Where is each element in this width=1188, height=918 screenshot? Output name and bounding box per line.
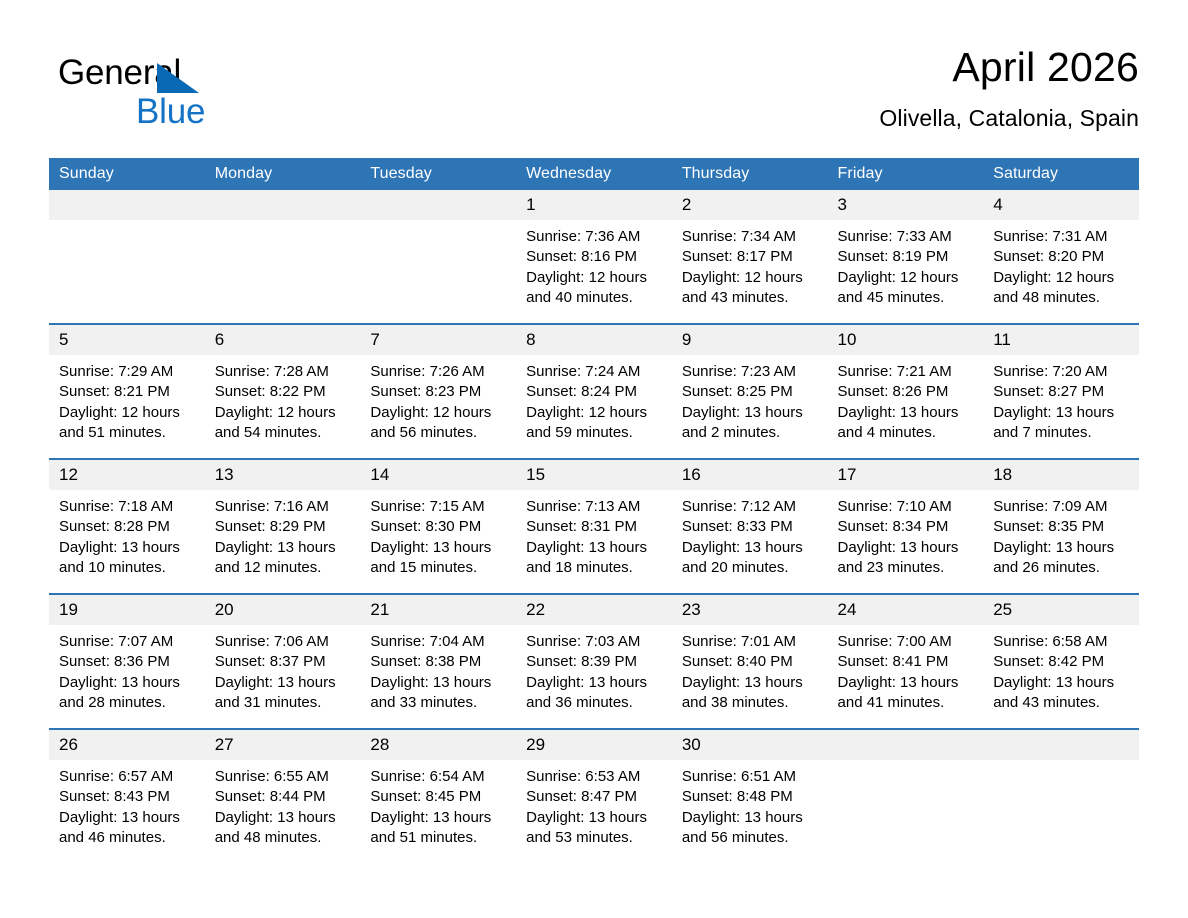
day-number (49, 190, 205, 220)
daylight-duration-line1: Daylight: 12 hours (682, 268, 818, 288)
calendar-day-cell-empty (360, 190, 516, 324)
sunrise-time: Sunrise: 7:31 AM (993, 227, 1129, 247)
day-number: 24 (828, 595, 984, 625)
sunset-time: Sunset: 8:40 PM (682, 652, 818, 672)
day-details: Sunrise: 7:28 AMSunset: 8:22 PMDaylight:… (205, 355, 361, 443)
day-cell-inner: 10Sunrise: 7:21 AMSunset: 8:26 PMDayligh… (828, 325, 984, 458)
sunrise-time: Sunrise: 7:12 AM (682, 497, 818, 517)
day-details: Sunrise: 7:10 AMSunset: 8:34 PMDaylight:… (828, 490, 984, 578)
daylight-duration-line2: and 12 minutes. (215, 558, 351, 578)
calendar-body: 1Sunrise: 7:36 AMSunset: 8:16 PMDaylight… (49, 190, 1139, 863)
daylight-duration-line2: and 7 minutes. (993, 423, 1129, 443)
calendar-day-cell-empty (49, 190, 205, 324)
day-cell-inner: 18Sunrise: 7:09 AMSunset: 8:35 PMDayligh… (983, 460, 1139, 593)
daylight-duration-line1: Daylight: 13 hours (838, 403, 974, 423)
calendar-day-cell-empty (828, 729, 984, 863)
daylight-duration-line1: Daylight: 13 hours (370, 808, 506, 828)
daylight-duration-line1: Daylight: 13 hours (215, 808, 351, 828)
general-blue-logo[interactable]: General Blue (58, 54, 318, 134)
daylight-duration-line2: and 28 minutes. (59, 693, 195, 713)
day-details: Sunrise: 7:12 AMSunset: 8:33 PMDaylight:… (672, 490, 828, 578)
day-number: 27 (205, 730, 361, 760)
daylight-duration-line2: and 26 minutes. (993, 558, 1129, 578)
sunset-time: Sunset: 8:22 PM (215, 382, 351, 402)
calendar-week-row: 19Sunrise: 7:07 AMSunset: 8:36 PMDayligh… (49, 594, 1139, 729)
day-number: 22 (516, 595, 672, 625)
day-cell-inner: 15Sunrise: 7:13 AMSunset: 8:31 PMDayligh… (516, 460, 672, 593)
calendar-day-cell[interactable]: 7Sunrise: 7:26 AMSunset: 8:23 PMDaylight… (360, 324, 516, 459)
day-details: Sunrise: 6:53 AMSunset: 8:47 PMDaylight:… (516, 760, 672, 848)
daylight-duration-line2: and 20 minutes. (682, 558, 818, 578)
sunset-time: Sunset: 8:45 PM (370, 787, 506, 807)
daylight-duration-line1: Daylight: 13 hours (682, 403, 818, 423)
title-block: April 2026 Olivella, Catalonia, Spain (879, 42, 1139, 134)
day-cell-inner: 30Sunrise: 6:51 AMSunset: 8:48 PMDayligh… (672, 730, 828, 863)
sunrise-time: Sunrise: 7:03 AM (526, 632, 662, 652)
day-number: 21 (360, 595, 516, 625)
daylight-duration-line2: and 56 minutes. (370, 423, 506, 443)
daylight-duration-line1: Daylight: 13 hours (370, 538, 506, 558)
sunrise-time: Sunrise: 6:53 AM (526, 767, 662, 787)
calendar-day-cell[interactable]: 30Sunrise: 6:51 AMSunset: 8:48 PMDayligh… (672, 729, 828, 863)
daylight-duration-line1: Daylight: 12 hours (993, 268, 1129, 288)
blue-triangle-icon (157, 63, 199, 93)
calendar-day-cell[interactable]: 19Sunrise: 7:07 AMSunset: 8:36 PMDayligh… (49, 594, 205, 729)
daylight-duration-line2: and 41 minutes. (838, 693, 974, 713)
sunrise-time: Sunrise: 7:34 AM (682, 227, 818, 247)
sunrise-time: Sunrise: 7:26 AM (370, 362, 506, 382)
day-details: Sunrise: 6:54 AMSunset: 8:45 PMDaylight:… (360, 760, 516, 848)
sunset-time: Sunset: 8:20 PM (993, 247, 1129, 267)
sunrise-time: Sunrise: 7:06 AM (215, 632, 351, 652)
sunrise-time: Sunrise: 7:36 AM (526, 227, 662, 247)
daylight-duration-line1: Daylight: 12 hours (215, 403, 351, 423)
daylight-duration-line1: Daylight: 12 hours (59, 403, 195, 423)
calendar-day-cell[interactable]: 12Sunrise: 7:18 AMSunset: 8:28 PMDayligh… (49, 459, 205, 594)
daylight-duration-line1: Daylight: 13 hours (526, 538, 662, 558)
day-cell-inner: 12Sunrise: 7:18 AMSunset: 8:28 PMDayligh… (49, 460, 205, 593)
weekday-header-wednesday: Wednesday (516, 158, 672, 190)
day-details: Sunrise: 7:29 AMSunset: 8:21 PMDaylight:… (49, 355, 205, 443)
calendar-day-cell[interactable]: 16Sunrise: 7:12 AMSunset: 8:33 PMDayligh… (672, 459, 828, 594)
sunrise-time: Sunrise: 7:09 AM (993, 497, 1129, 517)
sunset-time: Sunset: 8:47 PM (526, 787, 662, 807)
day-details: Sunrise: 7:18 AMSunset: 8:28 PMDaylight:… (49, 490, 205, 578)
day-number: 23 (672, 595, 828, 625)
weekday-header-tuesday: Tuesday (360, 158, 516, 190)
daylight-duration-line2: and 59 minutes. (526, 423, 662, 443)
daylight-duration-line1: Daylight: 12 hours (370, 403, 506, 423)
day-cell-inner (360, 190, 516, 323)
sunset-time: Sunset: 8:28 PM (59, 517, 195, 537)
day-number: 20 (205, 595, 361, 625)
sunset-time: Sunset: 8:17 PM (682, 247, 818, 267)
daylight-duration-line2: and 15 minutes. (370, 558, 506, 578)
day-details: Sunrise: 6:58 AMSunset: 8:42 PMDaylight:… (983, 625, 1139, 713)
day-cell-inner: 20Sunrise: 7:06 AMSunset: 8:37 PMDayligh… (205, 595, 361, 728)
sunrise-sunset-calendar-table: Sunday Monday Tuesday Wednesday Thursday… (49, 158, 1139, 863)
day-number: 29 (516, 730, 672, 760)
calendar-header-row: Sunday Monday Tuesday Wednesday Thursday… (49, 158, 1139, 190)
day-cell-inner: 24Sunrise: 7:00 AMSunset: 8:41 PMDayligh… (828, 595, 984, 728)
day-number (828, 730, 984, 760)
sunset-time: Sunset: 8:48 PM (682, 787, 818, 807)
day-number: 2 (672, 190, 828, 220)
day-cell-inner: 4Sunrise: 7:31 AMSunset: 8:20 PMDaylight… (983, 190, 1139, 323)
sunrise-time: Sunrise: 6:57 AM (59, 767, 195, 787)
day-cell-inner (828, 730, 984, 863)
sunrise-time: Sunrise: 6:51 AM (682, 767, 818, 787)
day-details: Sunrise: 6:51 AMSunset: 8:48 PMDaylight:… (672, 760, 828, 848)
day-details: Sunrise: 7:24 AMSunset: 8:24 PMDaylight:… (516, 355, 672, 443)
calendar-day-cell[interactable]: 26Sunrise: 6:57 AMSunset: 8:43 PMDayligh… (49, 729, 205, 863)
sunrise-time: Sunrise: 6:54 AM (370, 767, 506, 787)
day-number: 13 (205, 460, 361, 490)
calendar-week-row: 5Sunrise: 7:29 AMSunset: 8:21 PMDaylight… (49, 324, 1139, 459)
day-details: Sunrise: 7:06 AMSunset: 8:37 PMDaylight:… (205, 625, 361, 713)
weekday-header-monday: Monday (205, 158, 361, 190)
day-cell-inner: 29Sunrise: 6:53 AMSunset: 8:47 PMDayligh… (516, 730, 672, 863)
sunset-time: Sunset: 8:16 PM (526, 247, 662, 267)
weekday-header-thursday: Thursday (672, 158, 828, 190)
daylight-duration-line1: Daylight: 13 hours (682, 538, 818, 558)
day-number: 26 (49, 730, 205, 760)
sunset-time: Sunset: 8:33 PM (682, 517, 818, 537)
day-cell-inner: 11Sunrise: 7:20 AMSunset: 8:27 PMDayligh… (983, 325, 1139, 458)
day-details: Sunrise: 7:13 AMSunset: 8:31 PMDaylight:… (516, 490, 672, 578)
day-details: Sunrise: 7:01 AMSunset: 8:40 PMDaylight:… (672, 625, 828, 713)
day-number: 18 (983, 460, 1139, 490)
day-number: 25 (983, 595, 1139, 625)
day-cell-inner: 2Sunrise: 7:34 AMSunset: 8:17 PMDaylight… (672, 190, 828, 323)
day-details: Sunrise: 6:57 AMSunset: 8:43 PMDaylight:… (49, 760, 205, 848)
calendar-day-cell[interactable]: 29Sunrise: 6:53 AMSunset: 8:47 PMDayligh… (516, 729, 672, 863)
daylight-duration-line1: Daylight: 13 hours (838, 673, 974, 693)
sunrise-time: Sunrise: 7:15 AM (370, 497, 506, 517)
day-number: 6 (205, 325, 361, 355)
day-details: Sunrise: 7:15 AMSunset: 8:30 PMDaylight:… (360, 490, 516, 578)
sunset-time: Sunset: 8:19 PM (838, 247, 974, 267)
day-number: 1 (516, 190, 672, 220)
day-details: Sunrise: 7:07 AMSunset: 8:36 PMDaylight:… (49, 625, 205, 713)
day-cell-inner (49, 190, 205, 323)
calendar-week-row: 12Sunrise: 7:18 AMSunset: 8:28 PMDayligh… (49, 459, 1139, 594)
day-cell-inner: 9Sunrise: 7:23 AMSunset: 8:25 PMDaylight… (672, 325, 828, 458)
page-header: General Blue April 2026 Olivella, Catalo… (49, 42, 1139, 152)
day-cell-inner (205, 190, 361, 323)
calendar-day-cell[interactable]: 20Sunrise: 7:06 AMSunset: 8:37 PMDayligh… (205, 594, 361, 729)
daylight-duration-line2: and 48 minutes. (215, 828, 351, 848)
calendar-day-cell[interactable]: 2Sunrise: 7:34 AMSunset: 8:17 PMDaylight… (672, 190, 828, 324)
weekday-header-saturday: Saturday (983, 158, 1139, 190)
day-number: 30 (672, 730, 828, 760)
calendar-page: General Blue April 2026 Olivella, Catalo… (0, 0, 1188, 918)
sunset-time: Sunset: 8:42 PM (993, 652, 1129, 672)
day-cell-inner: 22Sunrise: 7:03 AMSunset: 8:39 PMDayligh… (516, 595, 672, 728)
day-details: Sunrise: 7:26 AMSunset: 8:23 PMDaylight:… (360, 355, 516, 443)
calendar-day-cell[interactable]: 3Sunrise: 7:33 AMSunset: 8:19 PMDaylight… (828, 190, 984, 324)
day-number: 19 (49, 595, 205, 625)
sunset-time: Sunset: 8:30 PM (370, 517, 506, 537)
sunset-time: Sunset: 8:24 PM (526, 382, 662, 402)
day-cell-inner: 13Sunrise: 7:16 AMSunset: 8:29 PMDayligh… (205, 460, 361, 593)
day-cell-inner: 26Sunrise: 6:57 AMSunset: 8:43 PMDayligh… (49, 730, 205, 863)
day-cell-inner: 21Sunrise: 7:04 AMSunset: 8:38 PMDayligh… (360, 595, 516, 728)
day-details: Sunrise: 7:21 AMSunset: 8:26 PMDaylight:… (828, 355, 984, 443)
calendar-day-cell[interactable]: 14Sunrise: 7:15 AMSunset: 8:30 PMDayligh… (360, 459, 516, 594)
sunset-time: Sunset: 8:43 PM (59, 787, 195, 807)
daylight-duration-line2: and 2 minutes. (682, 423, 818, 443)
daylight-duration-line1: Daylight: 13 hours (993, 673, 1129, 693)
calendar-day-cell[interactable]: 27Sunrise: 6:55 AMSunset: 8:44 PMDayligh… (205, 729, 361, 863)
day-cell-inner: 19Sunrise: 7:07 AMSunset: 8:36 PMDayligh… (49, 595, 205, 728)
daylight-duration-line2: and 54 minutes. (215, 423, 351, 443)
day-cell-inner: 5Sunrise: 7:29 AMSunset: 8:21 PMDaylight… (49, 325, 205, 458)
sunrise-time: Sunrise: 7:16 AM (215, 497, 351, 517)
calendar-day-cell[interactable]: 18Sunrise: 7:09 AMSunset: 8:35 PMDayligh… (983, 459, 1139, 594)
daylight-duration-line1: Daylight: 13 hours (59, 673, 195, 693)
daylight-duration-line1: Daylight: 13 hours (370, 673, 506, 693)
daylight-duration-line1: Daylight: 13 hours (993, 538, 1129, 558)
day-cell-inner: 6Sunrise: 7:28 AMSunset: 8:22 PMDaylight… (205, 325, 361, 458)
day-number: 11 (983, 325, 1139, 355)
sunset-time: Sunset: 8:31 PM (526, 517, 662, 537)
calendar-day-cell[interactable]: 5Sunrise: 7:29 AMSunset: 8:21 PMDaylight… (49, 324, 205, 459)
sunset-time: Sunset: 8:36 PM (59, 652, 195, 672)
page-title: April 2026 (879, 42, 1139, 92)
day-cell-inner: 23Sunrise: 7:01 AMSunset: 8:40 PMDayligh… (672, 595, 828, 728)
day-cell-inner: 16Sunrise: 7:12 AMSunset: 8:33 PMDayligh… (672, 460, 828, 593)
sunset-time: Sunset: 8:25 PM (682, 382, 818, 402)
sunrise-time: Sunrise: 7:13 AM (526, 497, 662, 517)
sunrise-time: Sunrise: 7:00 AM (838, 632, 974, 652)
weekday-header-friday: Friday (828, 158, 984, 190)
calendar-day-cell[interactable]: 23Sunrise: 7:01 AMSunset: 8:40 PMDayligh… (672, 594, 828, 729)
calendar-day-cell[interactable]: 21Sunrise: 7:04 AMSunset: 8:38 PMDayligh… (360, 594, 516, 729)
day-details: Sunrise: 6:55 AMSunset: 8:44 PMDaylight:… (205, 760, 361, 848)
daylight-duration-line2: and 51 minutes. (59, 423, 195, 443)
daylight-duration-line1: Daylight: 13 hours (59, 538, 195, 558)
daylight-duration-line2: and 46 minutes. (59, 828, 195, 848)
sunrise-time: Sunrise: 7:20 AM (993, 362, 1129, 382)
daylight-duration-line2: and 18 minutes. (526, 558, 662, 578)
day-details: Sunrise: 7:04 AMSunset: 8:38 PMDaylight:… (360, 625, 516, 713)
sunrise-time: Sunrise: 7:24 AM (526, 362, 662, 382)
sunset-time: Sunset: 8:41 PM (838, 652, 974, 672)
daylight-duration-line1: Daylight: 12 hours (526, 403, 662, 423)
daylight-duration-line2: and 43 minutes. (993, 693, 1129, 713)
daylight-duration-line2: and 56 minutes. (682, 828, 818, 848)
daylight-duration-line1: Daylight: 13 hours (838, 538, 974, 558)
sunset-time: Sunset: 8:38 PM (370, 652, 506, 672)
sunset-time: Sunset: 8:35 PM (993, 517, 1129, 537)
day-number: 16 (672, 460, 828, 490)
sunrise-time: Sunrise: 7:21 AM (838, 362, 974, 382)
day-cell-inner: 8Sunrise: 7:24 AMSunset: 8:24 PMDaylight… (516, 325, 672, 458)
sunset-time: Sunset: 8:27 PM (993, 382, 1129, 402)
day-number (983, 730, 1139, 760)
daylight-duration-line2: and 53 minutes. (526, 828, 662, 848)
daylight-duration-line1: Daylight: 13 hours (59, 808, 195, 828)
day-details: Sunrise: 7:00 AMSunset: 8:41 PMDaylight:… (828, 625, 984, 713)
daylight-duration-line1: Daylight: 12 hours (838, 268, 974, 288)
day-number: 10 (828, 325, 984, 355)
sunset-time: Sunset: 8:26 PM (838, 382, 974, 402)
day-cell-inner (983, 730, 1139, 863)
calendar-day-cell[interactable]: 6Sunrise: 7:28 AMSunset: 8:22 PMDaylight… (205, 324, 361, 459)
sunrise-time: Sunrise: 7:04 AM (370, 632, 506, 652)
calendar-week-row: 1Sunrise: 7:36 AMSunset: 8:16 PMDaylight… (49, 190, 1139, 324)
day-cell-inner: 7Sunrise: 7:26 AMSunset: 8:23 PMDaylight… (360, 325, 516, 458)
sunrise-time: Sunrise: 7:18 AM (59, 497, 195, 517)
calendar-day-cell[interactable]: 17Sunrise: 7:10 AMSunset: 8:34 PMDayligh… (828, 459, 984, 594)
daylight-duration-line2: and 10 minutes. (59, 558, 195, 578)
day-details: Sunrise: 7:20 AMSunset: 8:27 PMDaylight:… (983, 355, 1139, 443)
calendar-week-row: 26Sunrise: 6:57 AMSunset: 8:43 PMDayligh… (49, 729, 1139, 863)
day-number: 15 (516, 460, 672, 490)
day-number: 4 (983, 190, 1139, 220)
daylight-duration-line2: and 48 minutes. (993, 288, 1129, 308)
day-number: 3 (828, 190, 984, 220)
daylight-duration-line1: Daylight: 13 hours (993, 403, 1129, 423)
daylight-duration-line2: and 33 minutes. (370, 693, 506, 713)
sunset-time: Sunset: 8:44 PM (215, 787, 351, 807)
daylight-duration-line2: and 36 minutes. (526, 693, 662, 713)
calendar-day-cell[interactable]: 8Sunrise: 7:24 AMSunset: 8:24 PMDaylight… (516, 324, 672, 459)
day-cell-inner: 25Sunrise: 6:58 AMSunset: 8:42 PMDayligh… (983, 595, 1139, 728)
day-cell-inner: 27Sunrise: 6:55 AMSunset: 8:44 PMDayligh… (205, 730, 361, 863)
day-number: 17 (828, 460, 984, 490)
day-number: 9 (672, 325, 828, 355)
daylight-duration-line1: Daylight: 13 hours (215, 538, 351, 558)
day-number: 12 (49, 460, 205, 490)
day-details: Sunrise: 7:09 AMSunset: 8:35 PMDaylight:… (983, 490, 1139, 578)
calendar-day-cell[interactable]: 10Sunrise: 7:21 AMSunset: 8:26 PMDayligh… (828, 324, 984, 459)
day-cell-inner: 1Sunrise: 7:36 AMSunset: 8:16 PMDaylight… (516, 190, 672, 323)
daylight-duration-line1: Daylight: 13 hours (526, 808, 662, 828)
daylight-duration-line1: Daylight: 13 hours (682, 808, 818, 828)
day-details: Sunrise: 7:23 AMSunset: 8:25 PMDaylight:… (672, 355, 828, 443)
daylight-duration-line2: and 23 minutes. (838, 558, 974, 578)
sunrise-time: Sunrise: 7:29 AM (59, 362, 195, 382)
daylight-duration-line1: Daylight: 13 hours (682, 673, 818, 693)
calendar-day-cell[interactable]: 25Sunrise: 6:58 AMSunset: 8:42 PMDayligh… (983, 594, 1139, 729)
day-number: 7 (360, 325, 516, 355)
daylight-duration-line2: and 4 minutes. (838, 423, 974, 443)
daylight-duration-line2: and 45 minutes. (838, 288, 974, 308)
day-details: Sunrise: 7:31 AMSunset: 8:20 PMDaylight:… (983, 220, 1139, 308)
day-number: 5 (49, 325, 205, 355)
daylight-duration-line2: and 51 minutes. (370, 828, 506, 848)
daylight-duration-line1: Daylight: 12 hours (526, 268, 662, 288)
day-number: 14 (360, 460, 516, 490)
calendar-day-cell[interactable]: 1Sunrise: 7:36 AMSunset: 8:16 PMDaylight… (516, 190, 672, 324)
page-subtitle: Olivella, Catalonia, Spain (879, 102, 1139, 134)
weekday-header-sunday: Sunday (49, 158, 205, 190)
daylight-duration-line1: Daylight: 13 hours (215, 673, 351, 693)
day-number: 8 (516, 325, 672, 355)
day-number (205, 190, 361, 220)
calendar-day-cell[interactable]: 24Sunrise: 7:00 AMSunset: 8:41 PMDayligh… (828, 594, 984, 729)
logo-text-blue: Blue (136, 93, 205, 131)
sunrise-time: Sunrise: 7:28 AM (215, 362, 351, 382)
daylight-duration-line1: Daylight: 13 hours (526, 673, 662, 693)
daylight-duration-line2: and 38 minutes. (682, 693, 818, 713)
sunset-time: Sunset: 8:23 PM (370, 382, 506, 402)
calendar-day-cell-empty (983, 729, 1139, 863)
sunrise-time: Sunrise: 7:33 AM (838, 227, 974, 247)
day-cell-inner: 17Sunrise: 7:10 AMSunset: 8:34 PMDayligh… (828, 460, 984, 593)
calendar-day-cell[interactable]: 4Sunrise: 7:31 AMSunset: 8:20 PMDaylight… (983, 190, 1139, 324)
calendar-day-cell[interactable]: 22Sunrise: 7:03 AMSunset: 8:39 PMDayligh… (516, 594, 672, 729)
calendar-day-cell[interactable]: 28Sunrise: 6:54 AMSunset: 8:45 PMDayligh… (360, 729, 516, 863)
daylight-duration-line2: and 40 minutes. (526, 288, 662, 308)
sunset-time: Sunset: 8:37 PM (215, 652, 351, 672)
sunrise-time: Sunrise: 6:55 AM (215, 767, 351, 787)
calendar-day-cell-empty (205, 190, 361, 324)
sunrise-time: Sunrise: 6:58 AM (993, 632, 1129, 652)
day-details: Sunrise: 7:33 AMSunset: 8:19 PMDaylight:… (828, 220, 984, 308)
day-number: 28 (360, 730, 516, 760)
day-details: Sunrise: 7:16 AMSunset: 8:29 PMDaylight:… (205, 490, 361, 578)
day-cell-inner: 28Sunrise: 6:54 AMSunset: 8:45 PMDayligh… (360, 730, 516, 863)
day-details: Sunrise: 7:03 AMSunset: 8:39 PMDaylight:… (516, 625, 672, 713)
day-details: Sunrise: 7:34 AMSunset: 8:17 PMDaylight:… (672, 220, 828, 308)
day-cell-inner: 14Sunrise: 7:15 AMSunset: 8:30 PMDayligh… (360, 460, 516, 593)
sunrise-time: Sunrise: 7:01 AM (682, 632, 818, 652)
sunrise-time: Sunrise: 7:23 AM (682, 362, 818, 382)
sunrise-time: Sunrise: 7:10 AM (838, 497, 974, 517)
sunrise-time: Sunrise: 7:07 AM (59, 632, 195, 652)
calendar-day-cell[interactable]: 13Sunrise: 7:16 AMSunset: 8:29 PMDayligh… (205, 459, 361, 594)
daylight-duration-line2: and 43 minutes. (682, 288, 818, 308)
calendar-day-cell[interactable]: 11Sunrise: 7:20 AMSunset: 8:27 PMDayligh… (983, 324, 1139, 459)
sunset-time: Sunset: 8:34 PM (838, 517, 974, 537)
sunset-time: Sunset: 8:29 PM (215, 517, 351, 537)
day-number (360, 190, 516, 220)
calendar-day-cell[interactable]: 15Sunrise: 7:13 AMSunset: 8:31 PMDayligh… (516, 459, 672, 594)
calendar-day-cell[interactable]: 9Sunrise: 7:23 AMSunset: 8:25 PMDaylight… (672, 324, 828, 459)
daylight-duration-line2: and 31 minutes. (215, 693, 351, 713)
day-cell-inner: 3Sunrise: 7:33 AMSunset: 8:19 PMDaylight… (828, 190, 984, 323)
sunset-time: Sunset: 8:39 PM (526, 652, 662, 672)
sunset-time: Sunset: 8:21 PM (59, 382, 195, 402)
day-details: Sunrise: 7:36 AMSunset: 8:16 PMDaylight:… (516, 220, 672, 308)
